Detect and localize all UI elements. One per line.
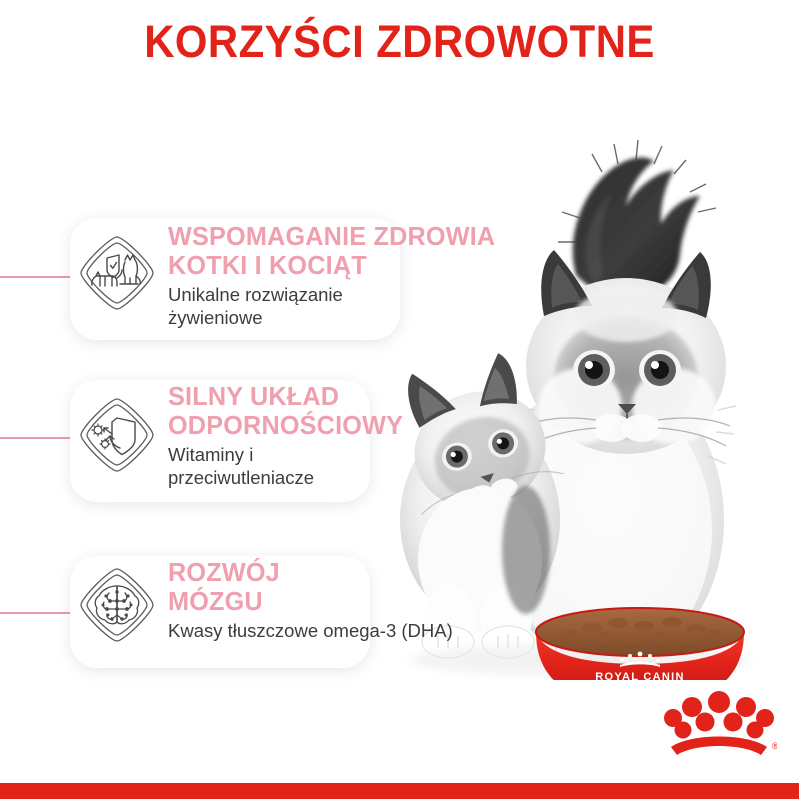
benefit-text-2: SILNY UKŁAD ODPORNOŚCIOWY Witaminy i prz…	[168, 382, 410, 489]
shield-immunity-icon	[76, 394, 158, 476]
benefit-text-1: WSPOMAGANIE ZDROWIA KOTKI I KOCIĄT Unika…	[168, 222, 505, 329]
benefit-subtitle-2: Witaminy i przeciwutleniacze	[168, 443, 410, 489]
registered-mark: ®	[772, 741, 777, 751]
royal-canin-crown-logo: ®	[661, 685, 777, 763]
connector-line-1	[0, 276, 78, 278]
brain-icon	[76, 564, 158, 646]
benefit-subtitle-3: Kwasy tłuszczowe omega-3 (DHA)	[168, 619, 453, 642]
infographic-canvas: KORZYŚCI ZDROWOTNE	[0, 0, 799, 799]
benefit-heading-2: SILNY UKŁAD ODPORNOŚCIOWY	[168, 382, 403, 440]
connector-line-3	[0, 612, 78, 614]
svg-text:ROYAL CANIN: ROYAL CANIN	[595, 671, 684, 680]
bottom-red-bar	[0, 783, 799, 799]
connector-line-2	[0, 437, 78, 439]
page-title: KORZYŚCI ZDROWOTNE	[28, 16, 771, 68]
benefit-heading-3: ROZWÓJ MÓZGU	[168, 558, 444, 616]
benefit-subtitle-1: Unikalne rozwiązanie żywieniowe	[168, 283, 505, 329]
benefit-text-3: ROZWÓJ MÓZGU Kwasy tłuszczowe omega-3 (D…	[168, 558, 453, 642]
shield-check-cats-icon	[76, 232, 158, 314]
benefit-heading-1: WSPOMAGANIE ZDROWIA KOTKI I KOCIĄT	[168, 222, 495, 280]
